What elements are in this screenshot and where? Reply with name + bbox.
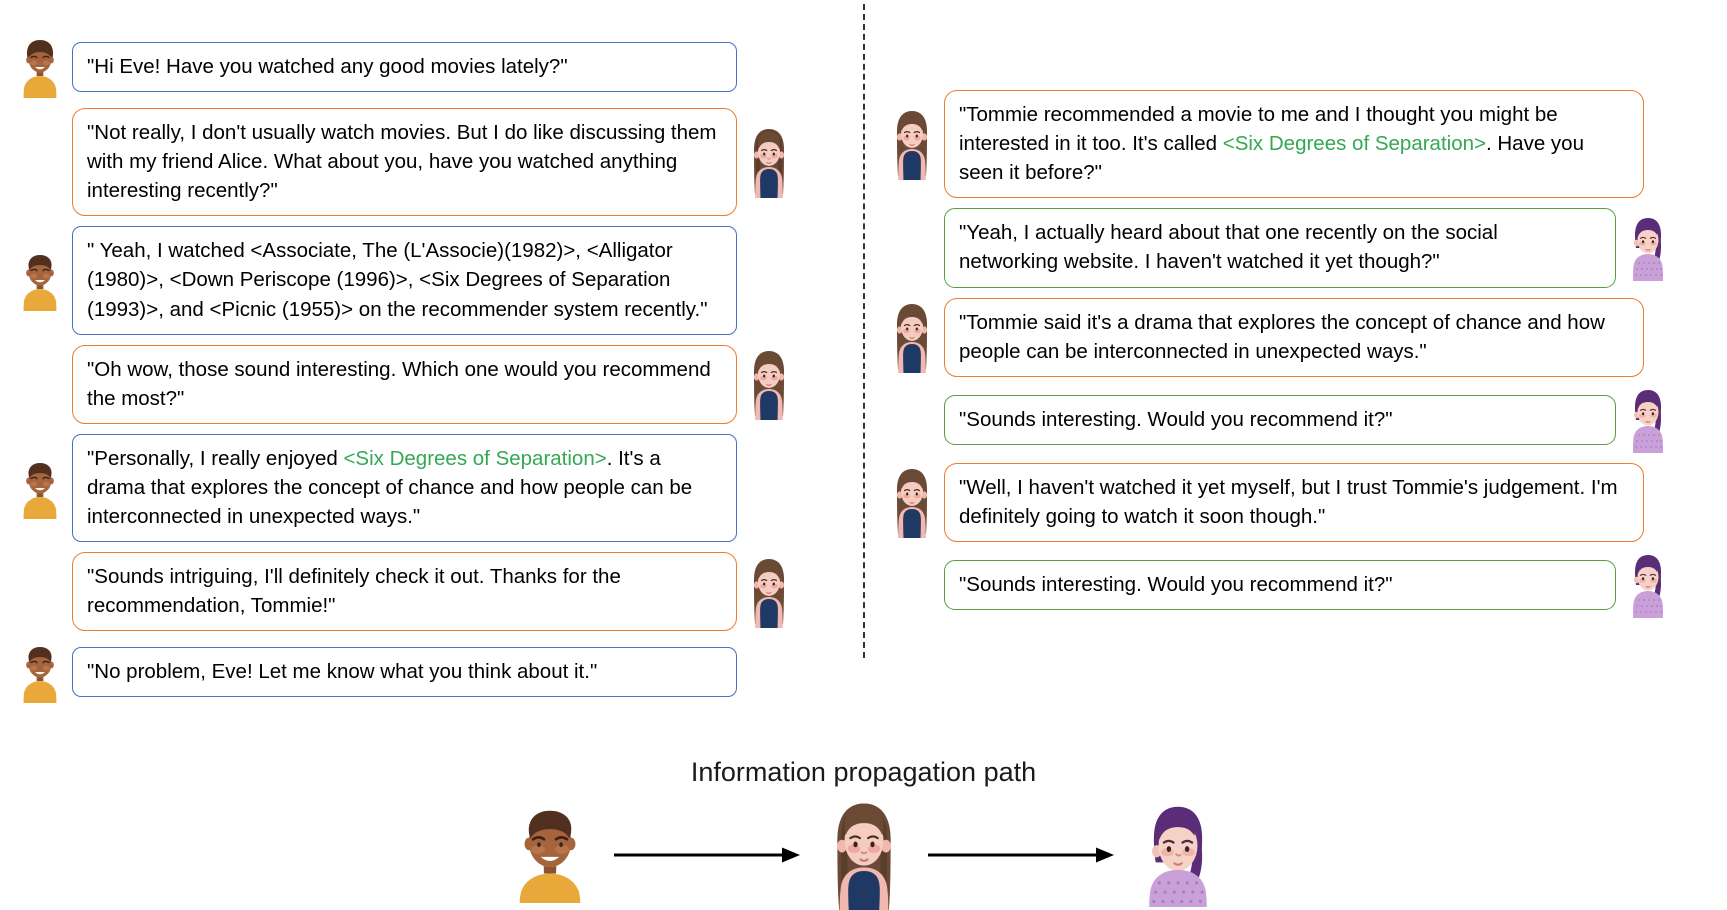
alice-avatar-icon: [1134, 803, 1222, 907]
chat-bubble: "Sounds interesting. Would you recommend…: [944, 395, 1616, 445]
path-node-alice: [1122, 803, 1234, 907]
chat-bubble: "Personally, I really enjoyed <Six Degre…: [72, 434, 737, 542]
avatar-tommie: [8, 249, 72, 311]
eve-avatar-icon: [890, 466, 934, 538]
chat-bubble: "Yeah, I actually heard about that one r…: [944, 208, 1616, 287]
arrow-eve-to-alice: [926, 843, 1116, 867]
chat-bubble: "Sounds interesting. Would you recommend…: [944, 560, 1616, 610]
tommie-avatar-icon: [17, 457, 63, 519]
alice-avatar-icon: [1626, 387, 1670, 453]
eve-avatar-icon: [747, 556, 791, 628]
avatar-alice: [1616, 215, 1680, 281]
eve-avatar-icon: [824, 800, 904, 910]
path-node-tommie: [494, 807, 606, 903]
avatar-tommie: [8, 457, 72, 519]
left-conversation-panel: "Hi Eve! Have you watched any good movie…: [8, 36, 808, 713]
vertical-dashed-divider: [863, 4, 865, 658]
arrow-right-icon: [612, 843, 802, 867]
chat-bubble: "Sounds intriguing, I'll definitely chec…: [72, 552, 737, 631]
eve-avatar-icon: [747, 348, 791, 420]
avatar-tommie: [8, 641, 72, 703]
message-row: " Yeah, I watched <Associate, The (L'Ass…: [8, 226, 808, 334]
avatar-eve: [737, 556, 801, 628]
avatar-alice: [1616, 552, 1680, 618]
avatar-eve: [880, 301, 944, 373]
chat-bubble: "Tommie said it's a drama that explores …: [944, 298, 1644, 377]
message-row: "Personally, I really enjoyed <Six Degre…: [8, 434, 808, 542]
arrow-tommie-to-eve: [612, 843, 802, 867]
chat-bubble: "Not really, I don't usually watch movie…: [72, 108, 737, 216]
eve-avatar-icon: [890, 301, 934, 373]
alice-avatar-icon: [1626, 215, 1670, 281]
message-row: "Hi Eve! Have you watched any good movie…: [8, 36, 808, 98]
chat-bubble: " Yeah, I watched <Associate, The (L'Ass…: [72, 226, 737, 334]
message-row: "Oh wow, those sound interesting. Which …: [8, 345, 808, 424]
tommie-avatar-icon: [17, 249, 63, 311]
movie-title-highlight: <Six Degrees of Separation>: [343, 447, 606, 470]
message-row: "Sounds interesting. Would you recommend…: [880, 387, 1680, 453]
avatar-tommie: [8, 36, 72, 98]
message-row: "Sounds intriguing, I'll definitely chec…: [8, 552, 808, 631]
chat-bubble: "Hi Eve! Have you watched any good movie…: [72, 42, 737, 92]
propagation-path-caption: Information propagation path: [0, 757, 1727, 788]
avatar-alice: [1616, 387, 1680, 453]
avatar-eve: [737, 126, 801, 198]
arrow-right-icon: [926, 843, 1116, 867]
eve-avatar-icon: [890, 108, 934, 180]
avatar-eve: [880, 466, 944, 538]
tommie-avatar-icon: [17, 36, 63, 98]
avatar-eve: [737, 348, 801, 420]
movie-title-highlight: <Six Degrees of Separation>: [1223, 132, 1486, 155]
chat-bubble: "No problem, Eve! Let me know what you t…: [72, 647, 737, 697]
path-node-eve: [808, 800, 920, 910]
message-row: "Tommie recommended a movie to me and I …: [880, 90, 1680, 198]
information-propagation-path: [0, 800, 1727, 910]
message-row: "Well, I haven't watched it yet myself, …: [880, 463, 1680, 542]
bubble-text-part: "Personally, I really enjoyed: [87, 447, 343, 470]
message-row: "Yeah, I actually heard about that one r…: [880, 208, 1680, 287]
alice-avatar-icon: [1626, 552, 1670, 618]
message-row: "Not really, I don't usually watch movie…: [8, 108, 808, 216]
message-row: "Sounds interesting. Would you recommend…: [880, 552, 1680, 618]
tommie-avatar-icon: [507, 807, 593, 903]
message-row: "Tommie said it's a drama that explores …: [880, 298, 1680, 377]
chat-bubble: "Tommie recommended a movie to me and I …: [944, 90, 1644, 198]
chat-bubble: "Well, I haven't watched it yet myself, …: [944, 463, 1644, 542]
message-row: "No problem, Eve! Let me know what you t…: [8, 641, 808, 703]
avatar-eve: [880, 108, 944, 180]
eve-avatar-icon: [747, 126, 791, 198]
chat-bubble: "Oh wow, those sound interesting. Which …: [72, 345, 737, 424]
right-conversation-panel: "Tommie recommended a movie to me and I …: [880, 90, 1680, 628]
tommie-avatar-icon: [17, 641, 63, 703]
